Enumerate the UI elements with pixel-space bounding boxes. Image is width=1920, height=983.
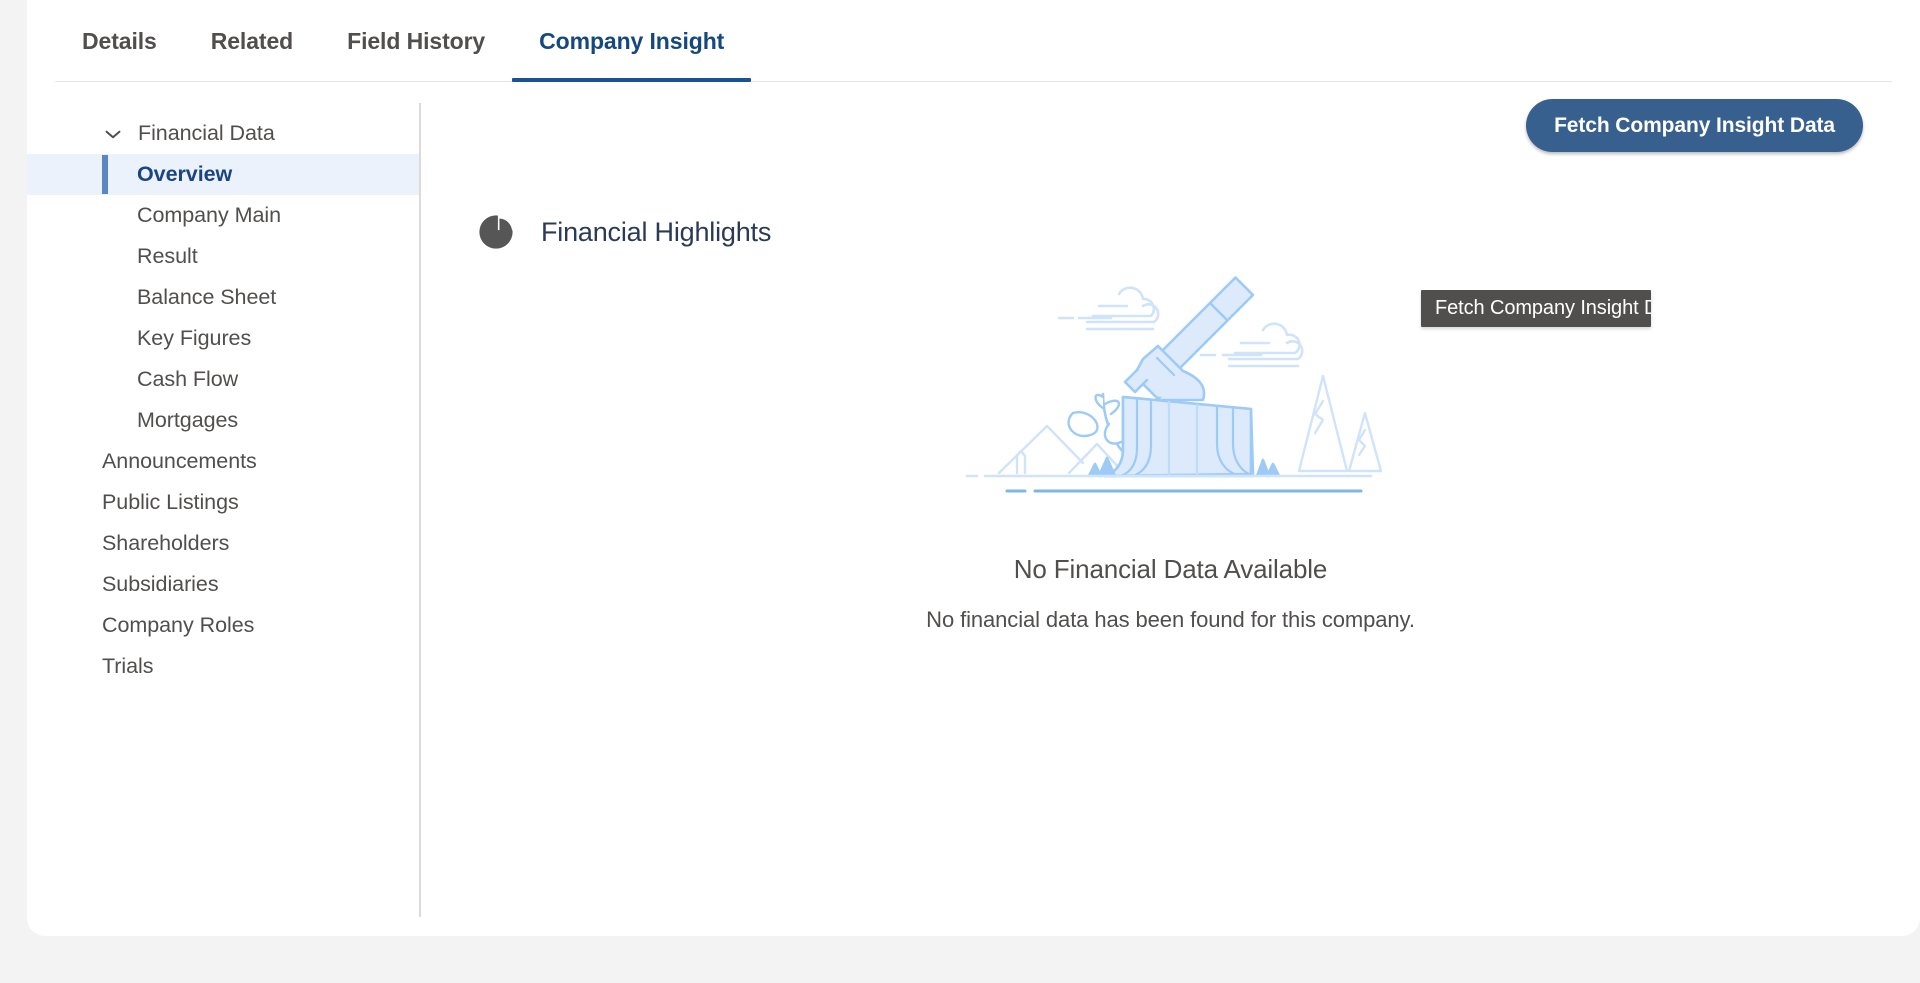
sidebar-item-label: Company Roles [102,613,254,638]
empty-state-subtitle: No financial data has been found for thi… [926,607,1415,633]
section-title: Financial Highlights [541,217,771,248]
sidebar-item-label: Key Figures [137,326,251,351]
sidebar-item-label: Trials [102,654,153,679]
fetch-button-label: Fetch Company Insight Data [1554,114,1835,138]
sidebar-item-subsidiaries[interactable]: Subsidiaries [27,564,419,605]
tab-details-label: Details [82,28,157,55]
sidebar-item-label: Cash Flow [137,367,238,392]
tab-list: Details Related Field History Company In… [55,0,751,82]
sidebar-item-balance-sheet[interactable]: Balance Sheet [27,277,419,318]
sidebar-nav: Financial Data Overview Company Main Res… [27,83,419,687]
sidebar-item-key-figures[interactable]: Key Figures [27,318,419,359]
sidebar-item-label: Balance Sheet [137,285,276,310]
tab-company-insight-label: Company Insight [539,28,724,55]
sidebar-item-cash-flow[interactable]: Cash Flow [27,359,419,400]
sidebar-item-label: Subsidiaries [102,572,219,597]
sidebar-item-label: Public Listings [102,490,239,515]
sidebar-item-label: Result [137,244,198,269]
sidebar-item-shareholders[interactable]: Shareholders [27,523,419,564]
sidebar-item-label: Company Main [137,203,281,228]
chevron-down-icon [102,123,124,145]
financial-highlights-header: Financial Highlights [477,213,771,251]
sidebar-item-overview[interactable]: Overview [27,154,419,195]
sidebar-item-mortgages[interactable]: Mortgages [27,400,419,441]
sidebar-group-label: Financial Data [138,121,275,146]
sidebar-item-company-main[interactable]: Company Main [27,195,419,236]
empty-state: No Financial Data Available No financial… [421,258,1920,633]
company-insight-card: Details Related Field History Company In… [27,0,1920,936]
page-root: Details Related Field History Company In… [0,0,1920,983]
sidebar-item-label: Shareholders [102,531,229,556]
sidebar-item-company-roles[interactable]: Company Roles [27,605,419,646]
sidebar-item-announcements[interactable]: Announcements [27,441,419,482]
tab-field-history-label: Field History [347,28,485,55]
body-area: Financial Data Overview Company Main Res… [27,83,1920,936]
sidebar-item-public-listings[interactable]: Public Listings [27,482,419,523]
sidebar-item-trials[interactable]: Trials [27,646,419,687]
tab-related-label: Related [211,28,293,55]
sidebar-item-label: Announcements [102,449,257,474]
tab-details[interactable]: Details [55,0,184,82]
sidebar-item-label: Overview [137,162,232,187]
tab-field-history[interactable]: Field History [320,0,512,82]
sidebar-item-result[interactable]: Result [27,236,419,277]
tab-company-insight[interactable]: Company Insight [512,0,751,82]
tab-related[interactable]: Related [184,0,320,82]
tab-bar: Details Related Field History Company In… [27,0,1920,83]
fetch-company-insight-data-button[interactable]: Fetch Company Insight Data [1526,99,1863,152]
pie-chart-icon [477,213,515,251]
sidebar-group-financial-data[interactable]: Financial Data [27,113,419,154]
content-pane: Fetch Company Insight Data Fetch Company… [421,83,1920,936]
empty-state-title: No Financial Data Available [1014,554,1327,585]
axe-in-tree-stump-illustration [951,258,1401,508]
sidebar-item-label: Mortgages [137,408,238,433]
